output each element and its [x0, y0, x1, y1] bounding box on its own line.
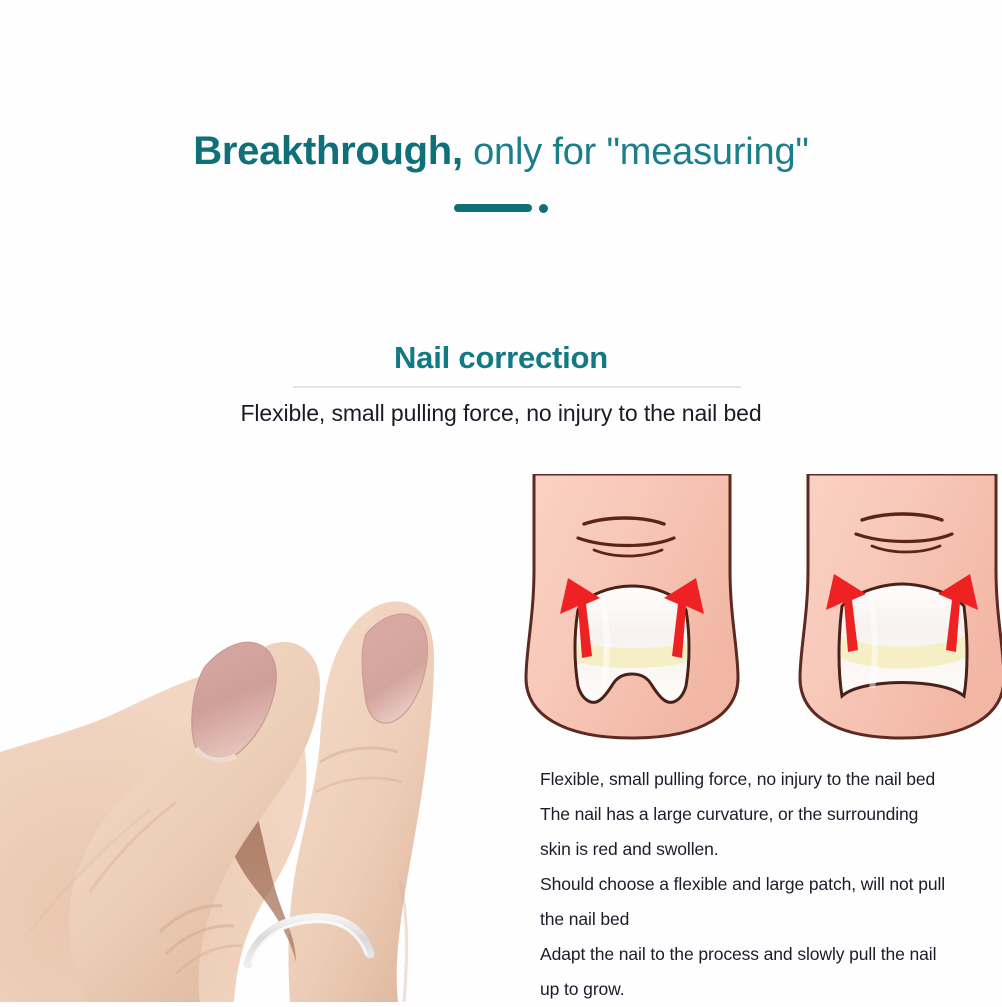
body-line: Should choose a flexible and large patch… — [540, 867, 970, 902]
toe-right-diagram — [786, 474, 1002, 742]
hand-bending-patch-photo — [0, 462, 460, 1002]
headline-light-text: only for "measuring" — [463, 131, 809, 173]
headline: Breakthrough, only for "measuring" — [0, 131, 1002, 171]
body-line: skin is red and swollen. — [540, 832, 970, 867]
body-line: the nail bed — [540, 902, 970, 937]
section-title: Nail correction — [0, 340, 1002, 376]
divider-dot — [539, 204, 548, 213]
body-line: The nail has a large curvature, or the s… — [540, 797, 970, 832]
headline-divider — [0, 201, 1002, 215]
body-line: Flexible, small pulling force, no injury… — [540, 762, 970, 797]
divider-bar — [454, 204, 532, 212]
body-text-block: Flexible, small pulling force, no injury… — [540, 762, 970, 1007]
section-rule — [293, 386, 741, 388]
headline-strong-text: Breakthrough, — [193, 129, 462, 173]
section-subtitle: Flexible, small pulling force, no injury… — [0, 399, 1002, 429]
body-line: Adapt the nail to the process and slowly… — [540, 937, 970, 972]
toe-left-diagram — [516, 474, 748, 742]
infographic-page: Breakthrough, only for "measuring" Nail … — [0, 0, 1002, 1002]
